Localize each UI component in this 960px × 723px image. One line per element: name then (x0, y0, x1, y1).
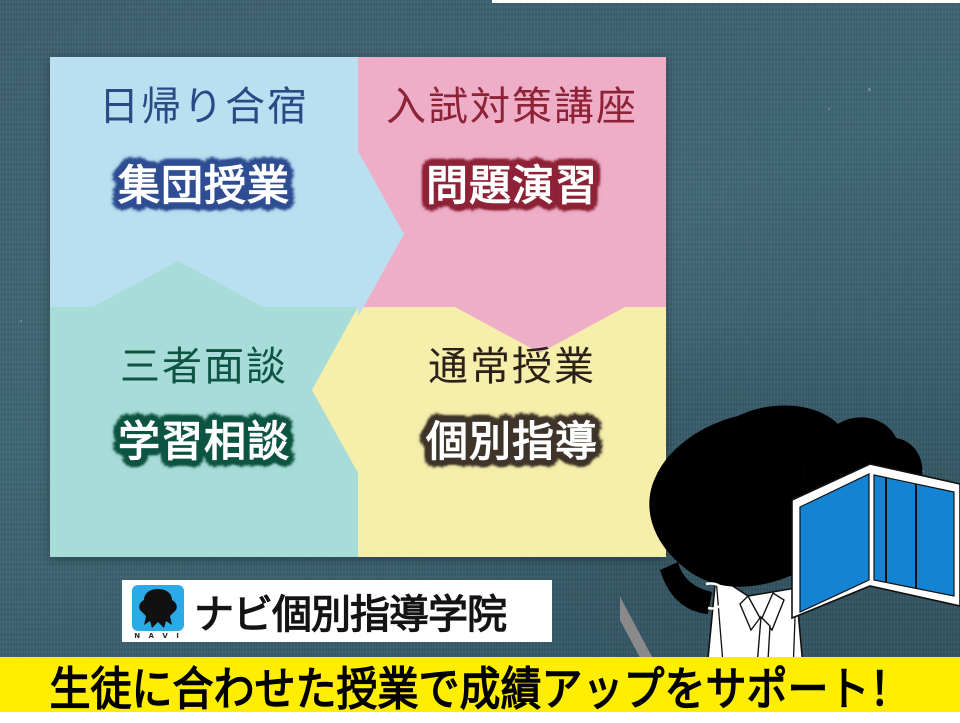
bottom-banner-text: 生徒に合わせた授業で成績アップをサポート！ (50, 651, 911, 718)
navi-bird-mascot-icon (132, 585, 184, 631)
quadrant-heading-bottom-left: 三者面談 (120, 347, 288, 387)
chalk-speck (868, 88, 871, 91)
quadrant-top-left[interactable]: 日帰り合宿 集団授業 (50, 57, 358, 307)
quadrant-top-right[interactable]: 入試対策講座 問題演習 (358, 57, 666, 307)
chalk-speck (828, 108, 830, 110)
quadrant-label-bottom-left: 学習相談 (118, 421, 290, 463)
quadrant-heading-bottom-right: 通常授業 (428, 347, 596, 387)
logo-caption: N A V I (132, 632, 184, 640)
quadrant-label-top-left: 集団授業 (118, 165, 290, 207)
bottom-white-strip (0, 712, 960, 723)
brand-logo-plate[interactable]: N A V I ナビ個別指導学院 (122, 580, 552, 642)
chalk-speck (20, 320, 22, 322)
quadrant-label-bottom-right: 個別指導 (426, 421, 598, 463)
brand-wordmark: ナビ個別指導学院 (194, 582, 506, 640)
navi-logo-mark: N A V I (132, 585, 184, 637)
bottom-banner: 生徒に合わせた授業で成績アップをサポート！ (0, 657, 960, 712)
quadrant-bottom-left[interactable]: 三者面談 学習相談 (50, 307, 358, 557)
quadrant-label-top-right: 問題演習 (426, 165, 598, 207)
screenshot-stage: 日帰り合宿 集団授業 入試対策講座 問題演習 三者面談 学習相談 通常授業 個別… (0, 0, 960, 723)
service-quadrant-panel: 日帰り合宿 集団授業 入試対策講座 問題演習 三者面談 学習相談 通常授業 個別… (50, 57, 666, 557)
quadrant-heading-top-left: 日帰り合宿 (99, 87, 309, 127)
top-white-sliver (492, 0, 960, 3)
quadrant-heading-top-right: 入試対策講座 (386, 87, 638, 127)
